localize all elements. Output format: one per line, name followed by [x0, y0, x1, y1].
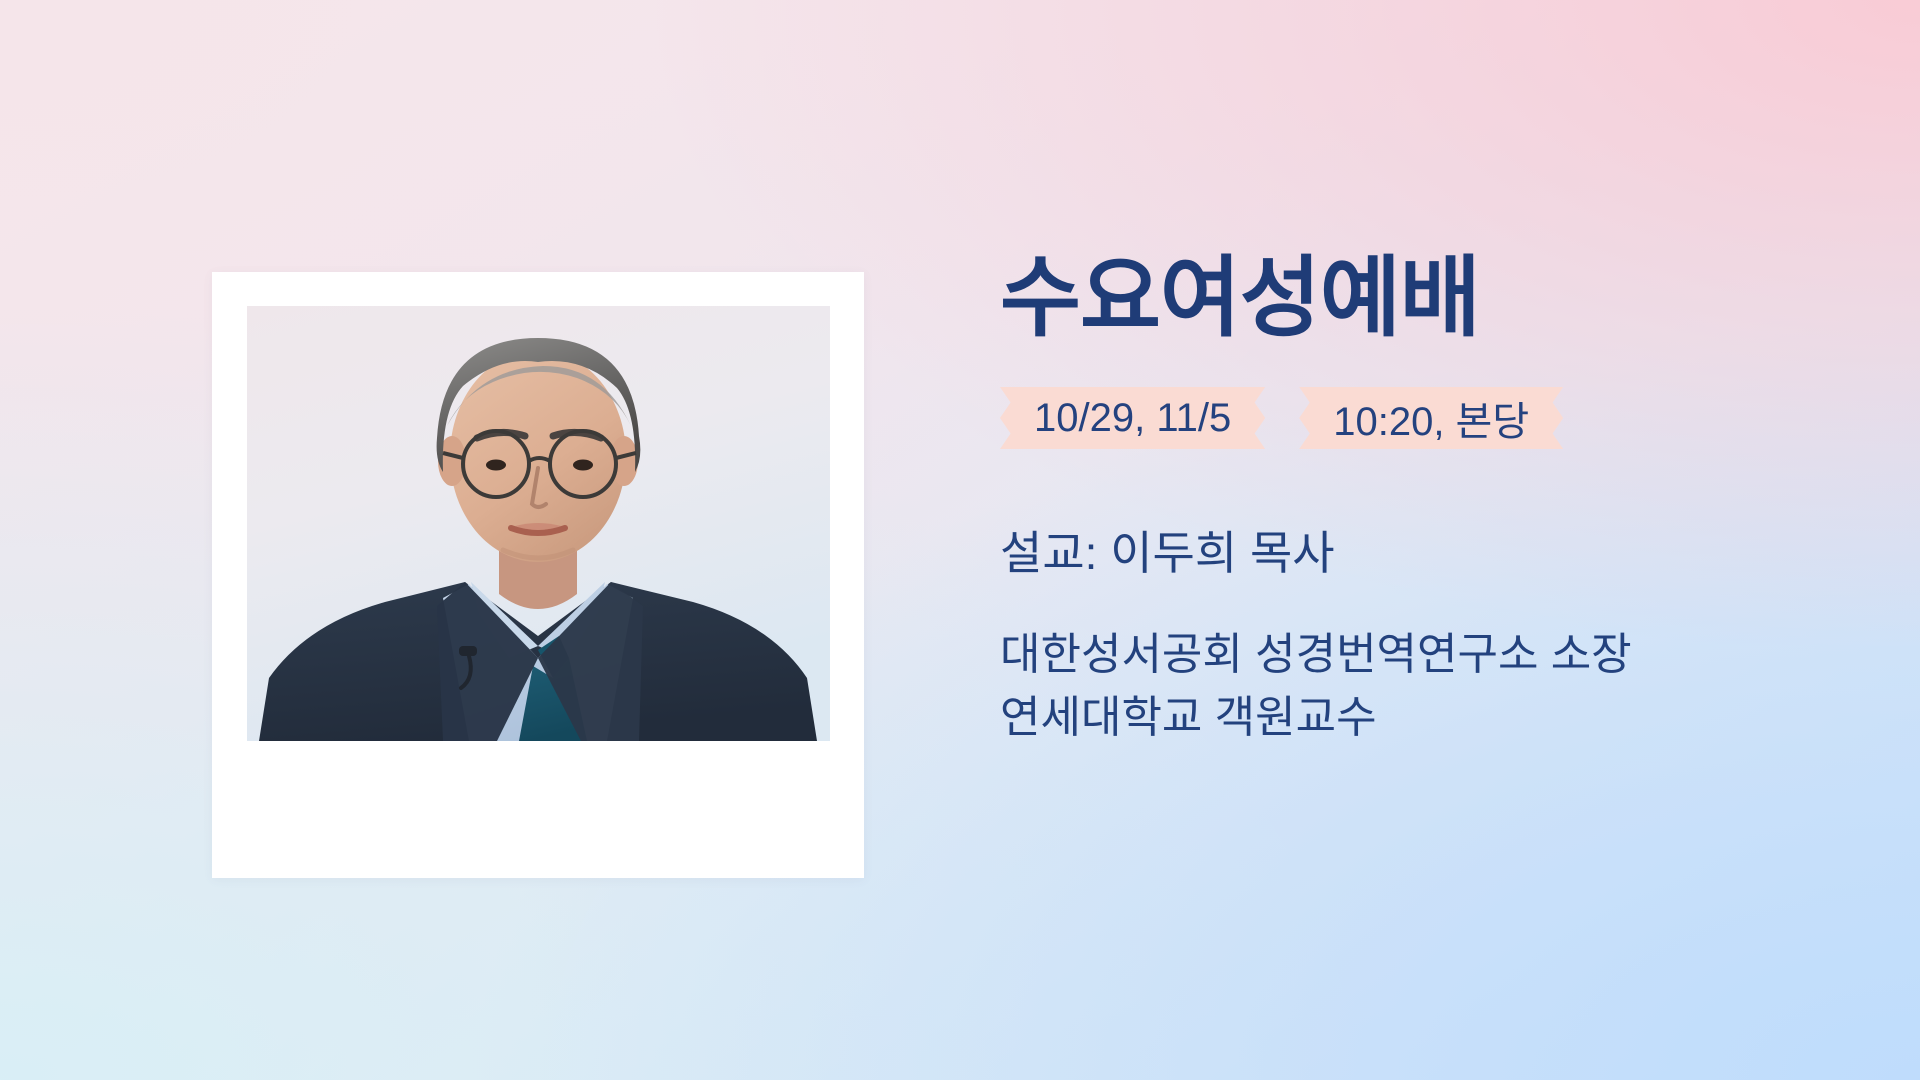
announcement-poster: 수요여성예배 10/29, 11/5 10:20, 본당 설교: 이두희 목사 … — [0, 0, 1920, 1080]
portrait-photo — [247, 306, 830, 741]
badge-time-location: 10:20, 본당 — [1299, 387, 1563, 449]
credential-line-2: 연세대학교 객원교수 — [1000, 686, 1820, 750]
credential-line-1: 대한성서공회 성경번역연구소 소장 — [1000, 623, 1820, 687]
page-title: 수요여성예배 — [1000, 250, 1820, 345]
speaker-line: 설교: 이두희 목사 — [1000, 525, 1820, 583]
portrait-illustration — [247, 306, 830, 741]
portrait-polaroid-frame — [212, 272, 864, 878]
poster-content: 수요여성예배 10/29, 11/5 10:20, 본당 설교: 이두희 목사 … — [1000, 250, 1820, 750]
speaker-credentials: 대한성서공회 성경번역연구소 소장 연세대학교 객원교수 — [1000, 623, 1820, 751]
badge-dates: 10/29, 11/5 — [1000, 387, 1265, 449]
info-badges: 10/29, 11/5 10:20, 본당 — [1000, 387, 1820, 449]
